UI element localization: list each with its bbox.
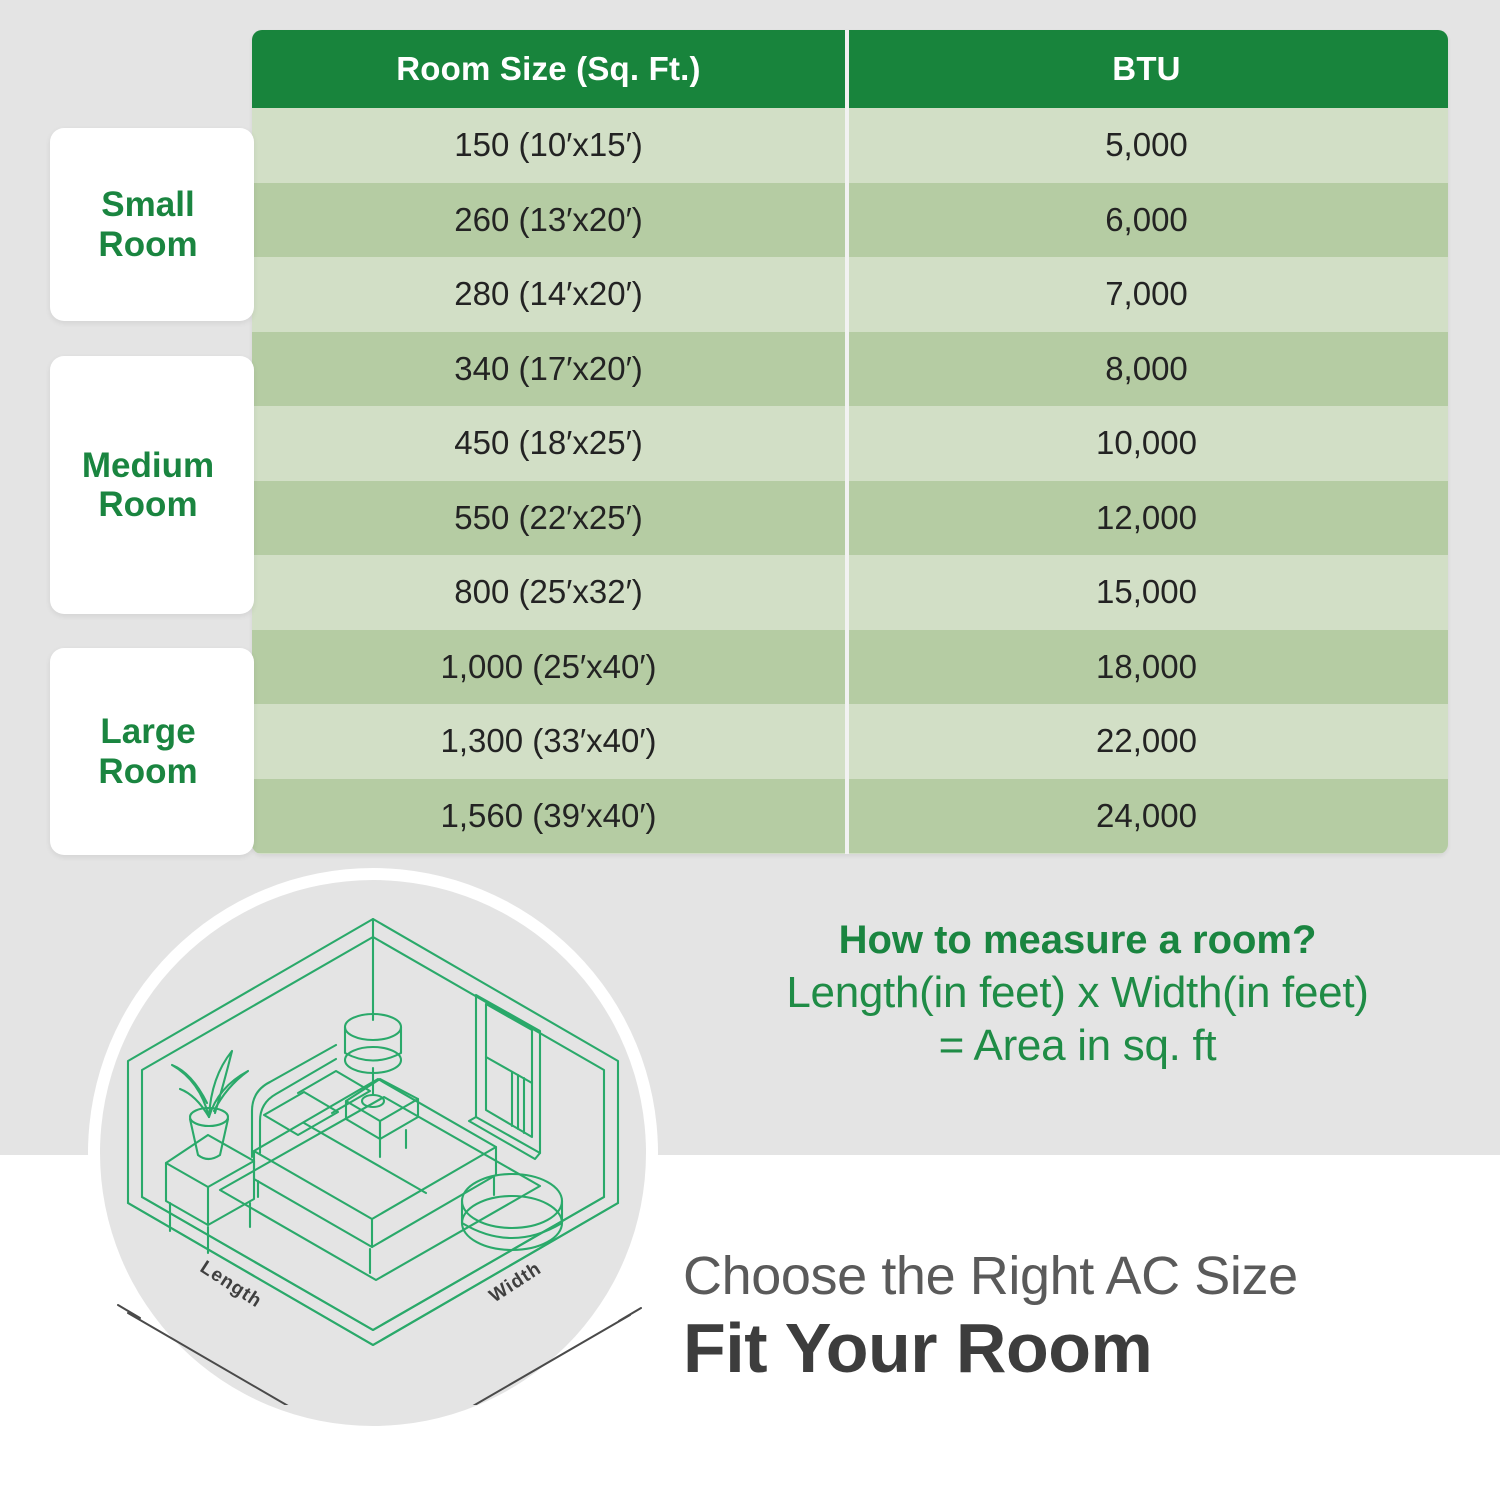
cell-btu: 24,000 bbox=[845, 779, 1448, 854]
cell-btu: 15,000 bbox=[845, 555, 1448, 630]
cell-room-size: 340 (17′x20′) bbox=[252, 332, 845, 407]
dimension-arrows-icon bbox=[108, 1185, 648, 1405]
cell-room-size: 1,000 (25′x40′) bbox=[252, 630, 845, 705]
category-label: Large Room bbox=[98, 712, 205, 790]
cell-btu: 7,000 bbox=[845, 257, 1448, 332]
potted-plant-icon bbox=[172, 1051, 248, 1159]
cell-room-size: 550 (22′x25′) bbox=[252, 481, 845, 556]
category-card-medium-room: Medium Room bbox=[50, 356, 254, 614]
table-row: 1,000 (25′x40′) 18,000 bbox=[252, 630, 1448, 705]
table-row: 340 (17′x20′) 8,000 bbox=[252, 332, 1448, 407]
window-icon bbox=[469, 995, 540, 1159]
headline-title: Fit Your Room bbox=[683, 1311, 1473, 1387]
category-card-large-room: Large Room bbox=[50, 648, 254, 855]
table-row: 1,300 (33′x40′) 22,000 bbox=[252, 704, 1448, 779]
cell-btu: 5,000 bbox=[845, 108, 1448, 183]
cell-room-size: 150 (10′x15′) bbox=[252, 108, 845, 183]
cell-btu: 18,000 bbox=[845, 630, 1448, 705]
measure-formula-line-1: Length(in feet) x Width(in feet) bbox=[690, 967, 1465, 1020]
column-header-room-size: Room Size (Sq. Ft.) bbox=[252, 30, 845, 108]
cell-room-size: 1,560 (39′x40′) bbox=[252, 779, 845, 854]
how-to-measure-title: How to measure a room? bbox=[690, 918, 1465, 962]
cell-room-size: 450 (18′x25′) bbox=[252, 406, 845, 481]
cell-btu: 22,000 bbox=[845, 704, 1448, 779]
cell-btu: 10,000 bbox=[845, 406, 1448, 481]
headline-subtitle: Choose the Right AC Size bbox=[683, 1248, 1473, 1305]
table-row: 150 (10′x15′) 5,000 bbox=[252, 108, 1448, 183]
category-label: Small Room bbox=[98, 185, 205, 263]
cell-btu: 12,000 bbox=[845, 481, 1448, 556]
category-label: Medium Room bbox=[82, 446, 222, 524]
cell-room-size: 800 (25′x32′) bbox=[252, 555, 845, 630]
measure-formula-line-2: = Area in sq. ft bbox=[690, 1020, 1465, 1073]
btu-sizing-table: Room Size (Sq. Ft.) BTU 150 (10′x15′) 5,… bbox=[252, 30, 1448, 854]
table-header-row: Room Size (Sq. Ft.) BTU bbox=[252, 30, 1448, 108]
table-column-divider bbox=[845, 30, 849, 854]
category-card-small-room: Small Room bbox=[50, 128, 254, 321]
cell-btu: 8,000 bbox=[845, 332, 1448, 407]
headline-block: Choose the Right AC Size Fit Your Room bbox=[683, 1248, 1473, 1386]
how-to-measure-block: How to measure a room? Length(in feet) x… bbox=[690, 918, 1465, 1073]
table-row: 260 (13′x20′) 6,000 bbox=[252, 183, 1448, 258]
table-row: 450 (18′x25′) 10,000 bbox=[252, 406, 1448, 481]
cell-btu: 6,000 bbox=[845, 183, 1448, 258]
table-row: 1,560 (39′x40′) 24,000 bbox=[252, 779, 1448, 854]
cell-room-size: 260 (13′x20′) bbox=[252, 183, 845, 258]
table-row: 280 (14′x20′) 7,000 bbox=[252, 257, 1448, 332]
column-header-btu: BTU bbox=[845, 30, 1448, 108]
table-row: 800 (25′x32′) 15,000 bbox=[252, 555, 1448, 630]
table-row: 550 (22′x25′) 12,000 bbox=[252, 481, 1448, 556]
cell-room-size: 280 (14′x20′) bbox=[252, 257, 845, 332]
cell-room-size: 1,300 (33′x40′) bbox=[252, 704, 845, 779]
